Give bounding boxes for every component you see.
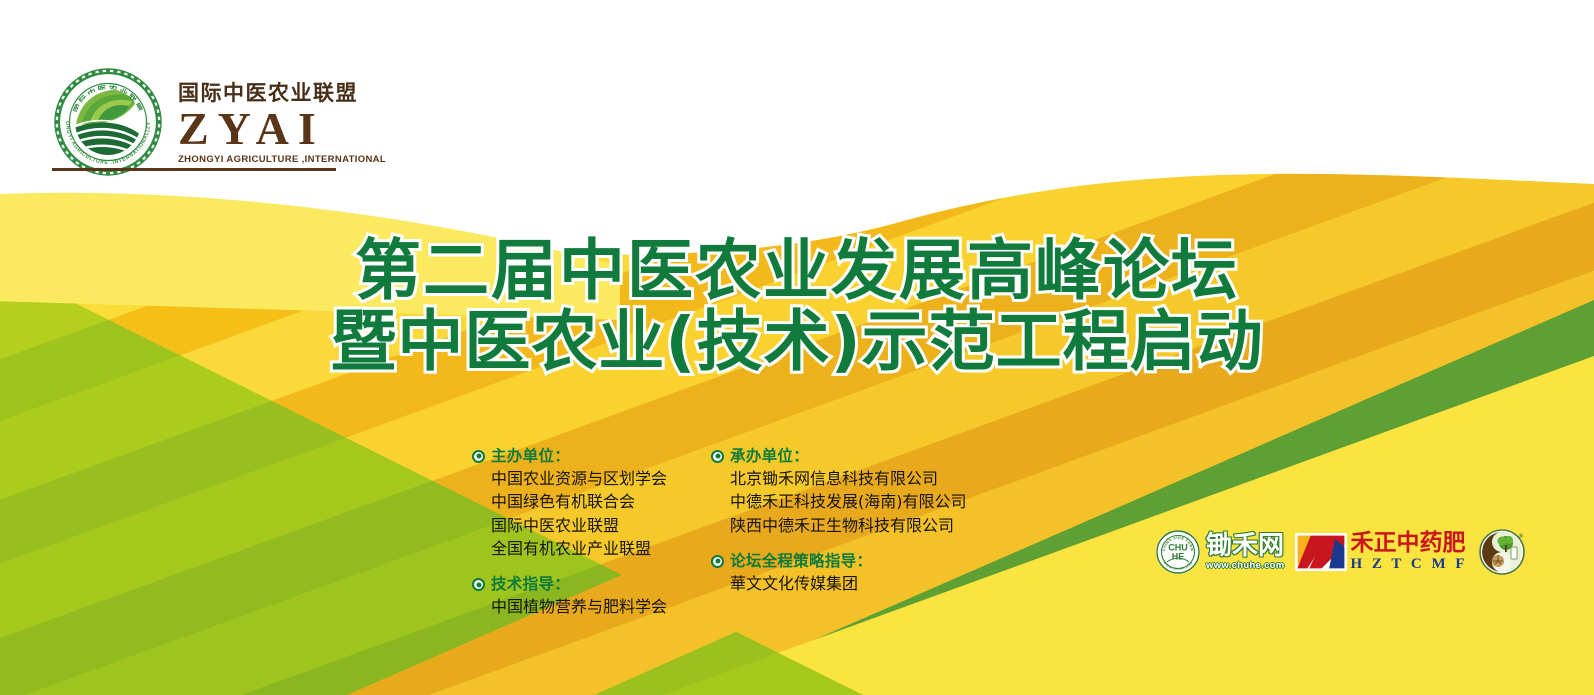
- credit-heading-label: 主办单位：: [491, 446, 570, 467]
- credit-heading-label: 承办单位：: [730, 446, 809, 467]
- credit-item: 中德禾正科技发展(海南)有限公司: [730, 490, 967, 513]
- alliance-logo: 国际中医农业联盟 ZHONGYI AGRICULTURE .INTERNATIO…: [52, 66, 386, 178]
- hezheng-name-en: H Z T C M F: [1351, 557, 1468, 572]
- chuhe-wordmark: 锄禾网 www.chuhe.com: [1206, 533, 1285, 571]
- credit-item: 全国有机农业产业联盟: [491, 537, 667, 560]
- alliance-abbr: ZYAI: [178, 106, 325, 152]
- hezheng-z-mark-icon: [1295, 533, 1347, 571]
- credit-group-strategic-guidance: 论坛全程策略指导： 華文文化传媒集团: [711, 551, 967, 595]
- bullet-icon: [711, 450, 724, 463]
- credit-heading: 承办单位：: [711, 446, 967, 467]
- credit-heading: 论坛全程策略指导：: [711, 551, 967, 572]
- hezheng-name-cn: 禾正中药肥: [1351, 532, 1468, 555]
- alliance-wordmark: 国际中医农业联盟 ZYAI ZHONGYI AGRICULTURE ,INTER…: [178, 78, 386, 166]
- bullet-icon: [711, 555, 724, 568]
- credits-block: 主办单位： 中国农业资源与区划学会 中国绿色有机联合会 国际中医农业联盟 全国有…: [472, 446, 967, 619]
- chuhe-name-cn: 锄禾网: [1206, 533, 1285, 559]
- credit-item: 華文文化传媒集团: [730, 572, 967, 595]
- logo-underline: [52, 168, 336, 171]
- credit-item: 北京锄禾网信息科技有限公司: [730, 467, 967, 490]
- hezheng-wordmark: 禾正中药肥 H Z T C M F: [1351, 532, 1468, 572]
- chuhe-url: www.chuhe.com: [1206, 561, 1285, 571]
- credit-heading-label: 技术指导：: [491, 574, 570, 595]
- credit-item: 陕西中德禾正生物科技有限公司: [730, 514, 967, 537]
- credit-item: 国际中医农业联盟: [491, 514, 667, 537]
- zyai-seal-svg: 国际中医农业联盟 ZHONGYI AGRICULTURE .INTERNATIO…: [52, 66, 164, 178]
- alliance-name-en: ZHONGYI AGRICULTURE ,INTERNATIONAL: [178, 155, 386, 165]
- sponsor-logo-chuhe: CHINA XIHE FARM WWW.CHUHE.COM CHU HE 锄禾网…: [1155, 529, 1285, 575]
- sponsor-logo-hezheng: 禾正中药肥 H Z T C M F: [1295, 532, 1468, 572]
- sponsor-logos: CHINA XIHE FARM WWW.CHUHE.COM CHU HE 锄禾网…: [1155, 528, 1526, 576]
- credit-heading-label: 论坛全程策略指导：: [730, 551, 872, 572]
- credits-column-right: 承办单位： 北京锄禾网信息科技有限公司 中德禾正科技发展(海南)有限公司 陕西中…: [711, 446, 967, 619]
- credit-item: 中国植物营养与肥料学会: [491, 595, 667, 618]
- credit-group-co-organizers: 承办单位： 北京锄禾网信息科技有限公司 中德禾正科技发展(海南)有限公司 陕西中…: [711, 446, 967, 537]
- credit-item: 中国绿色有机联合会: [491, 490, 667, 513]
- credit-group-organizers: 主办单位： 中国农业资源与区划学会 中国绿色有机联合会 国际中医农业联盟 全国有…: [472, 446, 667, 560]
- conference-banner: 国际中医农业联盟 ZHONGYI AGRICULTURE .INTERNATIO…: [0, 0, 1594, 695]
- bullet-icon: [472, 578, 485, 591]
- bullet-icon: [472, 450, 485, 463]
- svg-text:HE: HE: [1172, 552, 1185, 562]
- zyai-seal-icon: 国际中医农业联盟 ZHONGYI AGRICULTURE .INTERNATIO…: [52, 66, 164, 178]
- credits-column-left: 主办单位： 中国农业资源与区划学会 中国绿色有机联合会 国际中医农业联盟 全国有…: [472, 446, 667, 619]
- credit-group-technical-guidance: 技术指导： 中国植物营养与肥料学会: [472, 574, 667, 618]
- alliance-name-cn: 国际中医农业联盟: [178, 82, 358, 105]
- credit-heading: 主办单位：: [472, 446, 667, 467]
- tree-root-seal-icon: ®: [1478, 528, 1526, 576]
- credit-item: 中国农业资源与区划学会: [491, 467, 667, 490]
- sponsor-logo-tree-seal: ®: [1478, 528, 1526, 576]
- chuhe-seal-icon: CHINA XIHE FARM WWW.CHUHE.COM CHU HE: [1155, 529, 1201, 575]
- tree-seal-trademark: ®: [1518, 533, 1523, 540]
- credit-heading: 技术指导：: [472, 574, 667, 595]
